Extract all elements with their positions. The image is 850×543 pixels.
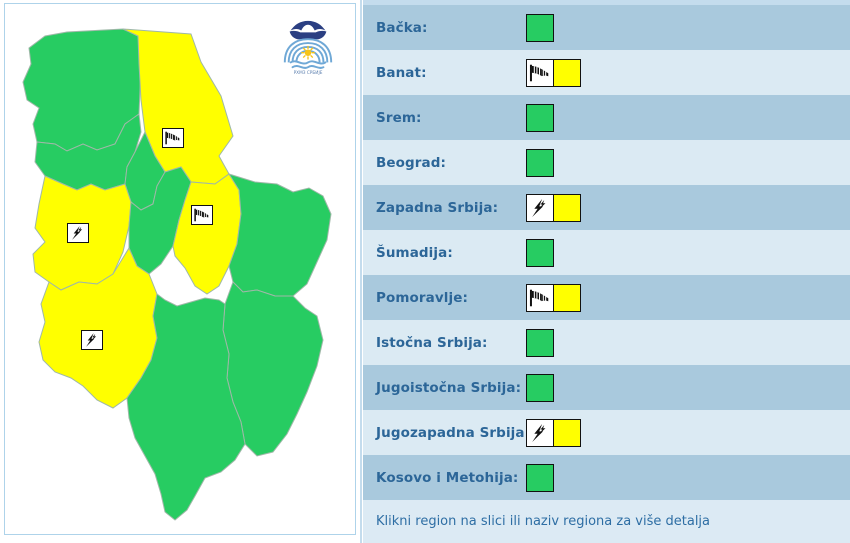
map-frame: РХМЗ СРБИЈЕ xyxy=(4,3,356,535)
wind-icon xyxy=(530,64,548,81)
region-swatches-zapadna-srbija xyxy=(526,194,581,222)
footer-hint-text: Klikni region na slici ili naziv regiona… xyxy=(376,514,710,529)
severity-swatch-green xyxy=(526,239,554,267)
thunderstorm-icon xyxy=(86,333,96,347)
list-footer: Klikni region na slici ili naziv regiona… xyxy=(362,500,850,543)
severity-swatch-green xyxy=(526,149,554,177)
logo-wave-2 xyxy=(293,66,324,68)
region-label-zapadna-srbija[interactable]: Zapadna Srbija: xyxy=(376,200,526,216)
severity-swatch-yellow xyxy=(553,59,581,87)
region-label-jugoistocna-srbija[interactable]: Jugoistočna Srbija: xyxy=(376,380,526,396)
region-label-jugozapadna-srbija[interactable]: Jugozapadna Srbija: xyxy=(376,425,526,441)
region-row-istocna-srbija[interactable]: Istočna Srbija: xyxy=(362,320,850,365)
logo-crown xyxy=(291,21,326,31)
map-panel: РХМЗ СРБИЈЕ xyxy=(0,0,360,543)
region-row-backa[interactable]: Bačka: xyxy=(362,5,850,50)
region-swatches-istocna-srbija xyxy=(526,329,554,357)
warning-thunderstorm-icon xyxy=(526,194,554,222)
region-swatches-sumadija xyxy=(526,239,554,267)
meteoalarm-page: РХМЗ СРБИЈЕ xyxy=(0,0,850,543)
severity-swatch-yellow xyxy=(553,284,581,312)
region-row-jugozapadna-srbija[interactable]: Jugozapadna Srbija: xyxy=(362,410,850,455)
severity-swatch-green xyxy=(526,329,554,357)
region-list-panel: Bačka:Banat: Srem:Beograd:Zapadna Srbija… xyxy=(360,0,850,543)
thunderstorm-icon xyxy=(532,424,545,442)
region-row-beograd[interactable]: Beograd: xyxy=(362,140,850,185)
region-row-zapadna-srbija[interactable]: Zapadna Srbija: xyxy=(362,185,850,230)
severity-swatch-yellow xyxy=(553,194,581,222)
logo-crown-base xyxy=(290,31,327,39)
region-label-backa[interactable]: Bačka: xyxy=(376,20,526,36)
thunderstorm-icon xyxy=(532,199,545,217)
region-swatches-pomoravlje xyxy=(526,284,581,312)
region-swatches-backa xyxy=(526,14,554,42)
region-label-pomoravlje[interactable]: Pomoravlje: xyxy=(376,290,526,306)
region-swatches-srem xyxy=(526,104,554,132)
region-row-sumadija[interactable]: Šumadija: xyxy=(362,230,850,275)
rhmz-logo: РХМЗ СРБИЈЕ xyxy=(279,14,337,76)
region-row-kosovo-i-metohija[interactable]: Kosovo i Metohija: xyxy=(362,455,850,500)
region-swatches-beograd xyxy=(526,149,554,177)
region-label-sumadija[interactable]: Šumadija: xyxy=(376,245,526,261)
severity-swatch-green xyxy=(526,464,554,492)
logo-sun xyxy=(305,49,312,56)
region-swatches-jugoistocna-srbija xyxy=(526,374,554,402)
region-label-kosovo-i-metohija[interactable]: Kosovo i Metohija: xyxy=(376,470,526,486)
map-pictogram-banat-wind[interactable] xyxy=(162,128,184,148)
region-label-banat[interactable]: Banat: xyxy=(376,65,526,81)
wind-icon xyxy=(530,289,548,306)
severity-swatch-green xyxy=(526,374,554,402)
region-row-srem[interactable]: Srem: xyxy=(362,95,850,140)
map-pictogram-zapadna-srbija-thunderstorm[interactable] xyxy=(67,223,89,243)
severity-swatch-yellow xyxy=(553,419,581,447)
region-label-istocna-srbija[interactable]: Istočna Srbija: xyxy=(376,335,526,351)
map-pictogram-pomoravlje-wind[interactable] xyxy=(191,205,213,225)
wind-icon xyxy=(194,209,208,222)
warning-wind-icon xyxy=(526,59,554,87)
region-row-jugoistocna-srbija[interactable]: Jugoistočna Srbija: xyxy=(362,365,850,410)
region-label-srem[interactable]: Srem: xyxy=(376,110,526,126)
serbia-region-map[interactable] xyxy=(5,4,355,534)
warning-thunderstorm-icon xyxy=(526,419,554,447)
region-swatches-banat xyxy=(526,59,581,87)
region-rows: Bačka:Banat: Srem:Beograd:Zapadna Srbija… xyxy=(362,5,850,500)
severity-swatch-green xyxy=(526,14,554,42)
wind-icon xyxy=(165,132,179,145)
thunderstorm-icon xyxy=(72,226,82,240)
region-swatches-kosovo-i-metohija xyxy=(526,464,554,492)
region-swatches-jugozapadna-srbija xyxy=(526,419,581,447)
warning-wind-icon xyxy=(526,284,554,312)
region-label-beograd[interactable]: Beograd: xyxy=(376,155,526,171)
region-row-banat[interactable]: Banat: xyxy=(362,50,850,95)
map-regions xyxy=(23,29,331,520)
logo-caption: РХМЗ СРБИЈЕ xyxy=(294,70,323,76)
map-pictogram-jugozapadna-srbija-thunderstorm[interactable] xyxy=(81,330,103,350)
region-istocna-srbija[interactable] xyxy=(229,174,331,296)
region-row-pomoravlje[interactable]: Pomoravlje: xyxy=(362,275,850,320)
severity-swatch-green xyxy=(526,104,554,132)
